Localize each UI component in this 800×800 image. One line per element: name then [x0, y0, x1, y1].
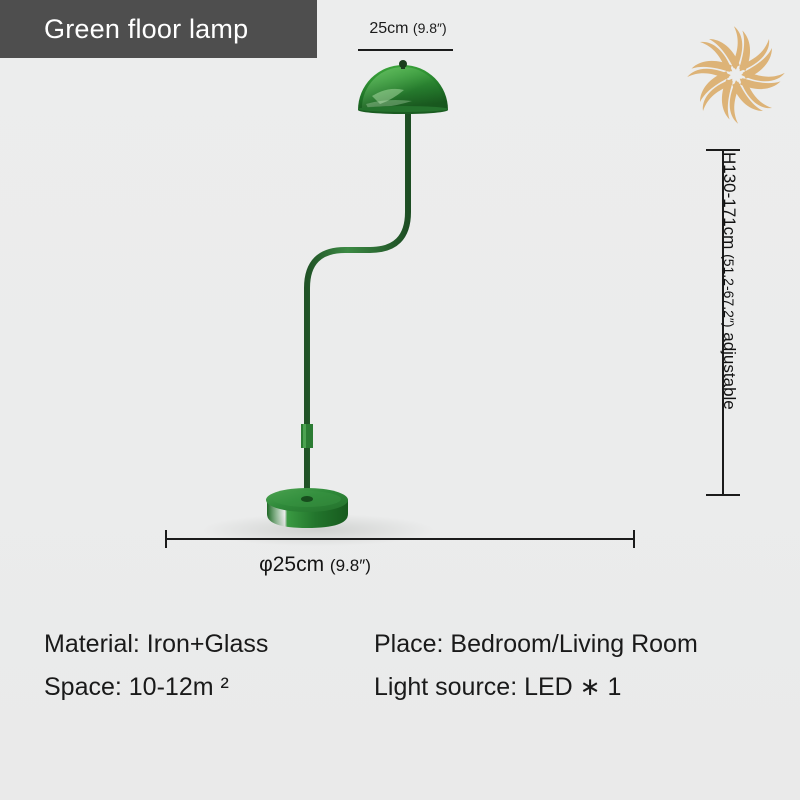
spec-row: Space: 10-12m ² Light source: LED ∗ 1 [44, 672, 774, 702]
base-diameter-dimension-line [165, 530, 635, 548]
spec-space: Space: 10-12m ² [44, 673, 374, 702]
product-spec-image: Green floor lamp [0, 0, 800, 800]
base-diameter-dimension-label: φ25cm (9.8″) [165, 553, 465, 577]
spec-row: Material: Iron+Glass Place: Bedroom/Livi… [44, 630, 774, 659]
base-diameter-value: φ25cm [259, 553, 324, 576]
height-value: H130-171cm [720, 152, 739, 249]
height-dimension-label: H130-171cm (51.2-67.2″) adjustable [719, 152, 739, 410]
base-diameter-value-inches: (9.8″) [330, 556, 371, 575]
base-diameter-cap-right [633, 530, 635, 548]
height-value-inches: (51.2-67.2″) [721, 254, 737, 327]
spec-place: Place: Bedroom/Living Room [374, 630, 698, 659]
base-diameter-shaft [165, 538, 635, 540]
height-adjustable-suffix: adjustable [720, 332, 739, 410]
specification-list: Material: Iron+Glass Place: Bedroom/Livi… [44, 630, 774, 715]
spec-light-source: Light source: LED ∗ 1 [374, 672, 621, 702]
spec-material: Material: Iron+Glass [44, 630, 374, 659]
height-dimension-cap-bottom [706, 494, 740, 496]
